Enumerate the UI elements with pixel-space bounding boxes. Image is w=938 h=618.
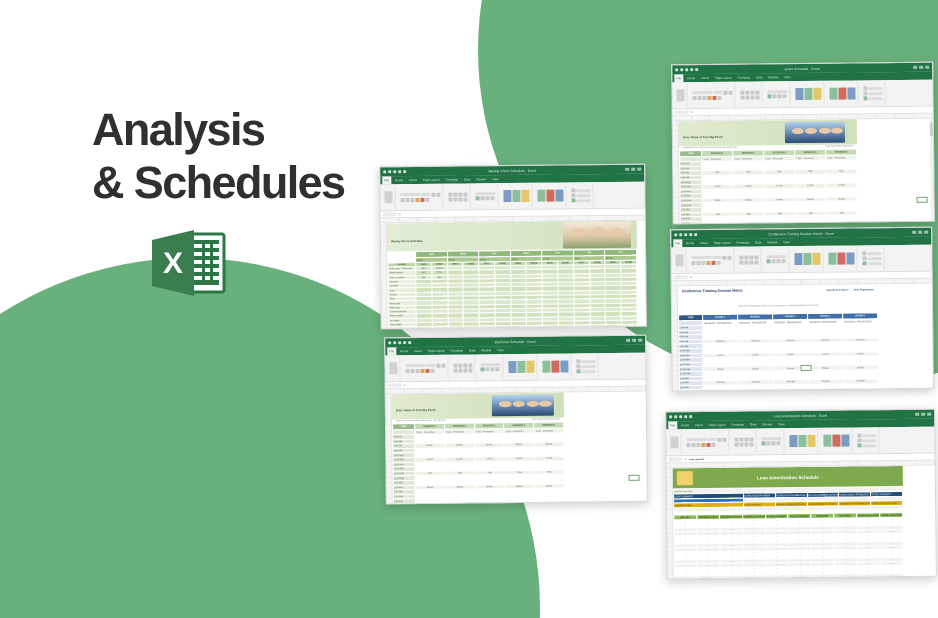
ribbon-tab-home[interactable]: Home [679, 421, 691, 429]
sheet-banner: Enter Name of Your Big Event [392, 392, 564, 419]
ribbon-tab-data[interactable]: Data [754, 73, 764, 81]
window-title: Event Schedule - Excel [672, 65, 932, 72]
sheet-area[interactable]: Enter Name of Your Big Event Additional … [673, 119, 934, 225]
ribbon-tab-formulas[interactable]: Formulas [443, 176, 460, 184]
banner-photo [492, 395, 554, 417]
ribbon-tab-file[interactable]: File [668, 421, 677, 429]
ribbon-tab-formulas[interactable]: Formulas [729, 421, 746, 429]
chore-rows: Make bed / Tidy roomAlex6/3/18Wash dishe… [388, 264, 638, 328]
sheet-title: Weekly Chore Schedule [391, 239, 423, 243]
ribbon-tab-insert[interactable]: Insert [693, 421, 705, 429]
ribbon-group-styles[interactable] [793, 82, 824, 106]
excel-window-weekly-chore-schedule[interactable]: Weekly Chore Schedule - Excel File Home … [379, 164, 647, 330]
ribbon-tab-formulas[interactable]: Formulas [736, 74, 753, 82]
ribbon-group-font[interactable] [684, 430, 729, 454]
name-box[interactable] [669, 457, 683, 461]
ribbon-tab-page-layout[interactable]: Page Layout [421, 176, 442, 184]
schedule-rows: 8:00 AM8:30 AM9:00 AMTitleTitleTitleTitl… [680, 160, 858, 224]
formula-content: Loan amount [689, 458, 704, 461]
sheet-note-right: Start Date Enter date here [825, 144, 853, 147]
sheet-title: Conference Training Session Matrix [682, 289, 743, 294]
sheet-title: Enter Name of Your Big Event [396, 408, 436, 412]
ribbon-group-clipboard[interactable] [674, 83, 687, 107]
ribbon-tab-home[interactable]: Home [398, 347, 410, 355]
sheet-note: Additional information about your big da… [683, 146, 738, 150]
vertical-scrollbar[interactable] [930, 119, 934, 222]
sheet-title: Loan Amortization Schedule [757, 474, 819, 480]
ribbon-group-cells[interactable] [827, 81, 858, 105]
sheet-note: Enter more information about your big da… [396, 419, 446, 423]
sheet-note-right: Start Date Enter date here [532, 418, 560, 421]
worksheet-grid[interactable]: Enter Name of Your Big Event Additional … [679, 119, 934, 225]
sheet-area[interactable]: Weekly Chore Schedule SUN MON TUE WED TH… [381, 221, 646, 329]
ribbon-group-cells[interactable] [826, 246, 857, 270]
schedule-table[interactable]: TIME SESSION 1 SESSION 2 SESSION 3 SESSI… [679, 148, 858, 224]
ribbon-group-font[interactable] [403, 356, 448, 380]
ribbon-tab-data[interactable]: Data [753, 238, 763, 246]
cell-amortization[interactable]: – [789, 578, 812, 579]
cell-session[interactable] [505, 498, 535, 503]
cell-amortization[interactable]: – [720, 575, 743, 579]
sheet-banner: Enter Name of Your Big Event [679, 119, 857, 146]
ribbon-tab-file[interactable]: File [674, 74, 683, 82]
fx-icon[interactable]: fx [404, 383, 406, 387]
schedule-table[interactable]: TIME SESSION 1 SESSION 2 SESSION 3 SESSI… [392, 421, 565, 504]
print-registration-link[interactable]: Print Registration [854, 288, 874, 291]
ribbon-tab-insert[interactable]: Insert [407, 176, 419, 184]
ribbon-group-cells[interactable] [821, 428, 852, 452]
name-box[interactable] [674, 275, 688, 279]
fx-icon[interactable]: fx [399, 212, 401, 216]
cell-amortization[interactable]: – [674, 576, 697, 580]
loan-inputs-table[interactable]: ENTER VALUES LOAN SUMMARY SCHEDULED PAYM… [673, 486, 903, 512]
cell-time[interactable]: 3:00 PM [393, 499, 415, 504]
cell-amortization[interactable]: – [766, 575, 789, 579]
fx-icon[interactable]: fx [685, 457, 687, 461]
name-box[interactable] [388, 383, 402, 387]
ribbon-group-editing[interactable] [861, 81, 885, 105]
window-title: Conference Training Session Matrix - Exc… [671, 230, 931, 237]
ribbon-group-number[interactable] [764, 247, 789, 271]
cell-amortization[interactable]: – [880, 573, 903, 577]
sheet-title: Enter Name of Your Big Event [683, 135, 723, 139]
sheet-note: Add more information about your conferen… [738, 304, 818, 308]
ribbon-tab-view[interactable]: View [781, 238, 792, 246]
ribbon-tab-data[interactable]: Data [467, 346, 477, 354]
excel-logo-icon: X [148, 228, 228, 298]
ribbon-group-cells[interactable] [540, 354, 571, 378]
ribbon-group-alignment[interactable] [446, 184, 470, 208]
ribbon-tab-insert[interactable]: Insert [412, 347, 424, 355]
ribbon-group-styles[interactable] [787, 429, 818, 453]
ribbon-tab-view[interactable]: View [490, 175, 501, 183]
ribbon-tab-review[interactable]: Review [479, 346, 493, 354]
excel-logo-letter: X [163, 247, 183, 280]
ribbon-tab-page-layout[interactable]: Page Layout [713, 74, 734, 82]
cell-amortization[interactable]: – [858, 578, 881, 580]
ribbon-tab-data[interactable]: Data [748, 420, 758, 428]
ribbon-tab-page-layout[interactable]: Page Layout [426, 347, 447, 355]
ribbon-group-font[interactable] [398, 185, 443, 209]
ribbon-tab-review[interactable]: Review [765, 238, 779, 246]
cell-amortization[interactable]: – [812, 578, 835, 579]
name-box[interactable] [675, 110, 689, 114]
selected-cell[interactable] [629, 475, 640, 481]
ribbon-group-styles[interactable] [506, 355, 537, 379]
ribbon-group-font[interactable] [690, 83, 735, 107]
ribbon[interactable] [672, 80, 932, 110]
sheet-area[interactable]: Conference Training Session Matrix Agend… [672, 284, 933, 392]
sheet-banner: Loan Amortization Schedule [673, 466, 903, 488]
ribbon-tab-file[interactable]: File [673, 239, 682, 247]
ribbon-tab-view[interactable]: View [495, 346, 506, 354]
cell-session[interactable] [475, 498, 505, 503]
ribbon-group-clipboard[interactable] [387, 356, 400, 380]
name-box[interactable] [383, 212, 397, 216]
ribbon-tab-file[interactable]: File [387, 347, 396, 355]
ribbon-group-styles[interactable] [792, 247, 823, 271]
ribbon-group-editing[interactable] [574, 354, 598, 378]
ribbon-tab-home[interactable]: Home [685, 74, 697, 82]
ribbon-group-clipboard[interactable] [382, 185, 395, 209]
ribbon-tab-view[interactable]: View [782, 73, 793, 81]
ribbon-group-number[interactable] [478, 355, 503, 379]
ribbon-tab-review[interactable]: Review [760, 420, 774, 428]
cell-session[interactable] [415, 499, 445, 504]
headline-line-2: & Schedules [92, 157, 422, 210]
ribbon-tab-file[interactable]: File [382, 176, 391, 184]
ribbon-group-alignment[interactable] [732, 429, 756, 453]
ribbon-tab-page-layout[interactable]: Page Layout [707, 421, 728, 429]
ribbon[interactable] [380, 182, 644, 212]
cell-amortization[interactable]: – [812, 574, 835, 578]
ribbon[interactable] [385, 353, 645, 383]
ribbon-group-editing[interactable] [860, 246, 884, 270]
banner-photo [563, 222, 631, 249]
poster-canvas: Analysis & Schedules X Event Schedule - … [0, 0, 938, 618]
ribbon[interactable] [671, 245, 931, 275]
ribbon-tab-review[interactable]: Review [474, 175, 488, 183]
cell-amortization[interactable]: – [857, 574, 880, 578]
fx-icon[interactable]: fx [691, 110, 693, 114]
banner-photo [785, 122, 845, 144]
ribbon[interactable] [666, 427, 934, 457]
ribbon-tab-home[interactable]: Home [684, 239, 696, 247]
ribbon-tab-insert[interactable]: Insert [699, 74, 711, 82]
fx-icon[interactable]: fx [690, 275, 692, 279]
excel-window-event-schedule-bottom[interactable]: Big Event Schedule - Excel File Home Ins… [384, 335, 648, 505]
ribbon-group-font[interactable] [689, 248, 734, 272]
excel-window-event-schedule-top[interactable]: Event Schedule - Excel File Home Insert … [671, 62, 935, 225]
cell-amortization[interactable]: – [835, 578, 858, 579]
worksheet-grid[interactable]: Conference Training Session Matrix Agend… [678, 284, 933, 392]
ribbon-tab-page-layout[interactable]: Page Layout [712, 239, 733, 247]
cell-amortization[interactable]: – [697, 575, 720, 579]
window-title: Big Event Schedule - Excel [385, 338, 645, 345]
worksheet-grid[interactable]: Loan Amortization Schedule ENTER VALUES … [673, 466, 936, 580]
cell-amortization[interactable]: – [743, 575, 766, 579]
ribbon-group-alignment[interactable] [737, 247, 761, 271]
ribbon-group-editing[interactable] [855, 428, 879, 452]
ribbon-group-number[interactable] [765, 82, 790, 106]
ribbon-group-styles[interactable] [501, 184, 532, 208]
cell-session[interactable] [535, 497, 565, 502]
agenda-glance-link[interactable]: Agenda at a Glance [827, 288, 849, 291]
ribbon-group-editing[interactable] [569, 183, 593, 207]
sheet-area[interactable]: Loan Amortization Schedule ENTER VALUES … [667, 466, 936, 580]
excel-window-conference-training-matrix[interactable]: Conference Training Session Matrix - Exc… [670, 227, 934, 392]
ribbon-tab-review[interactable]: Review [766, 73, 780, 81]
session-rows: 7:30 AM8:00 AM8:30 AM9:00 AMSessionSessi… [679, 324, 879, 392]
cell-amortization[interactable]: – [743, 579, 766, 580]
ribbon-group-alignment[interactable] [738, 82, 762, 106]
ribbon-group-number[interactable] [473, 184, 498, 208]
selected-cell[interactable] [801, 365, 812, 371]
ribbon-group-clipboard[interactable] [668, 430, 681, 454]
session-matrix-table[interactable]: TIME ROOM 1 ROOM 2 ROOM 3 ROOM 4 ROOM 5 … [678, 312, 879, 391]
amortization-rows: ––––––––––––––––––––––––––––––––––––––––… [674, 517, 904, 579]
sheet-banner: Weekly Chore Schedule [387, 221, 637, 252]
ribbon-tab-view[interactable]: View [776, 420, 787, 428]
ribbon-group-number[interactable] [759, 429, 784, 453]
window-title: Weekly Chore Schedule - Excel [380, 167, 644, 174]
company-logo-placeholder [677, 471, 693, 485]
ribbon-group-cells[interactable] [535, 183, 566, 207]
ribbon-tab-data[interactable]: Data [462, 175, 472, 183]
page-title: Analysis & Schedules [92, 104, 422, 209]
ribbon-tab-insert[interactable]: Insert [698, 239, 710, 247]
ribbon-tab-home[interactable]: Home [393, 176, 405, 184]
window-title: Loan Amortization Schedule - Excel [666, 412, 934, 419]
ribbon-group-alignment[interactable] [451, 355, 475, 379]
worksheet-grid[interactable]: Weekly Chore Schedule SUN MON TUE WED TH… [387, 221, 646, 329]
cell-amortization[interactable]: – [880, 577, 903, 579]
cell-amortization[interactable]: – [766, 579, 789, 580]
selected-cell[interactable] [917, 197, 928, 203]
worksheet-grid[interactable]: Enter Name of Your Big Event Enter more … [392, 392, 647, 505]
cell-amortization[interactable]: – [789, 574, 812, 578]
schedule-rows: 8:00 AM8:30 AM9:00 AMBreakBreakBreakBrea… [393, 433, 565, 504]
chore-table[interactable]: SUN MON TUE WED THU FRI SAT 6/3/18 6/4/1… [387, 249, 638, 329]
excel-window-loan-amortization-schedule[interactable]: Loan Amortization Schedule - Excel File … [665, 409, 937, 580]
cell-session[interactable] [445, 498, 475, 503]
headline-line-1: Analysis [92, 104, 422, 157]
amortization-table[interactable]: PMT NO. PAYMENT DATE BEGINNING BALANCE S… [673, 512, 904, 579]
ribbon-group-clipboard[interactable] [673, 248, 686, 272]
ribbon-tab-formulas[interactable]: Formulas [448, 347, 465, 355]
cell-amortization[interactable]: – [835, 574, 858, 578]
sheet-area[interactable]: Enter Name of Your Big Event Enter more … [386, 392, 647, 505]
ribbon-tab-formulas[interactable]: Formulas [734, 239, 751, 247]
